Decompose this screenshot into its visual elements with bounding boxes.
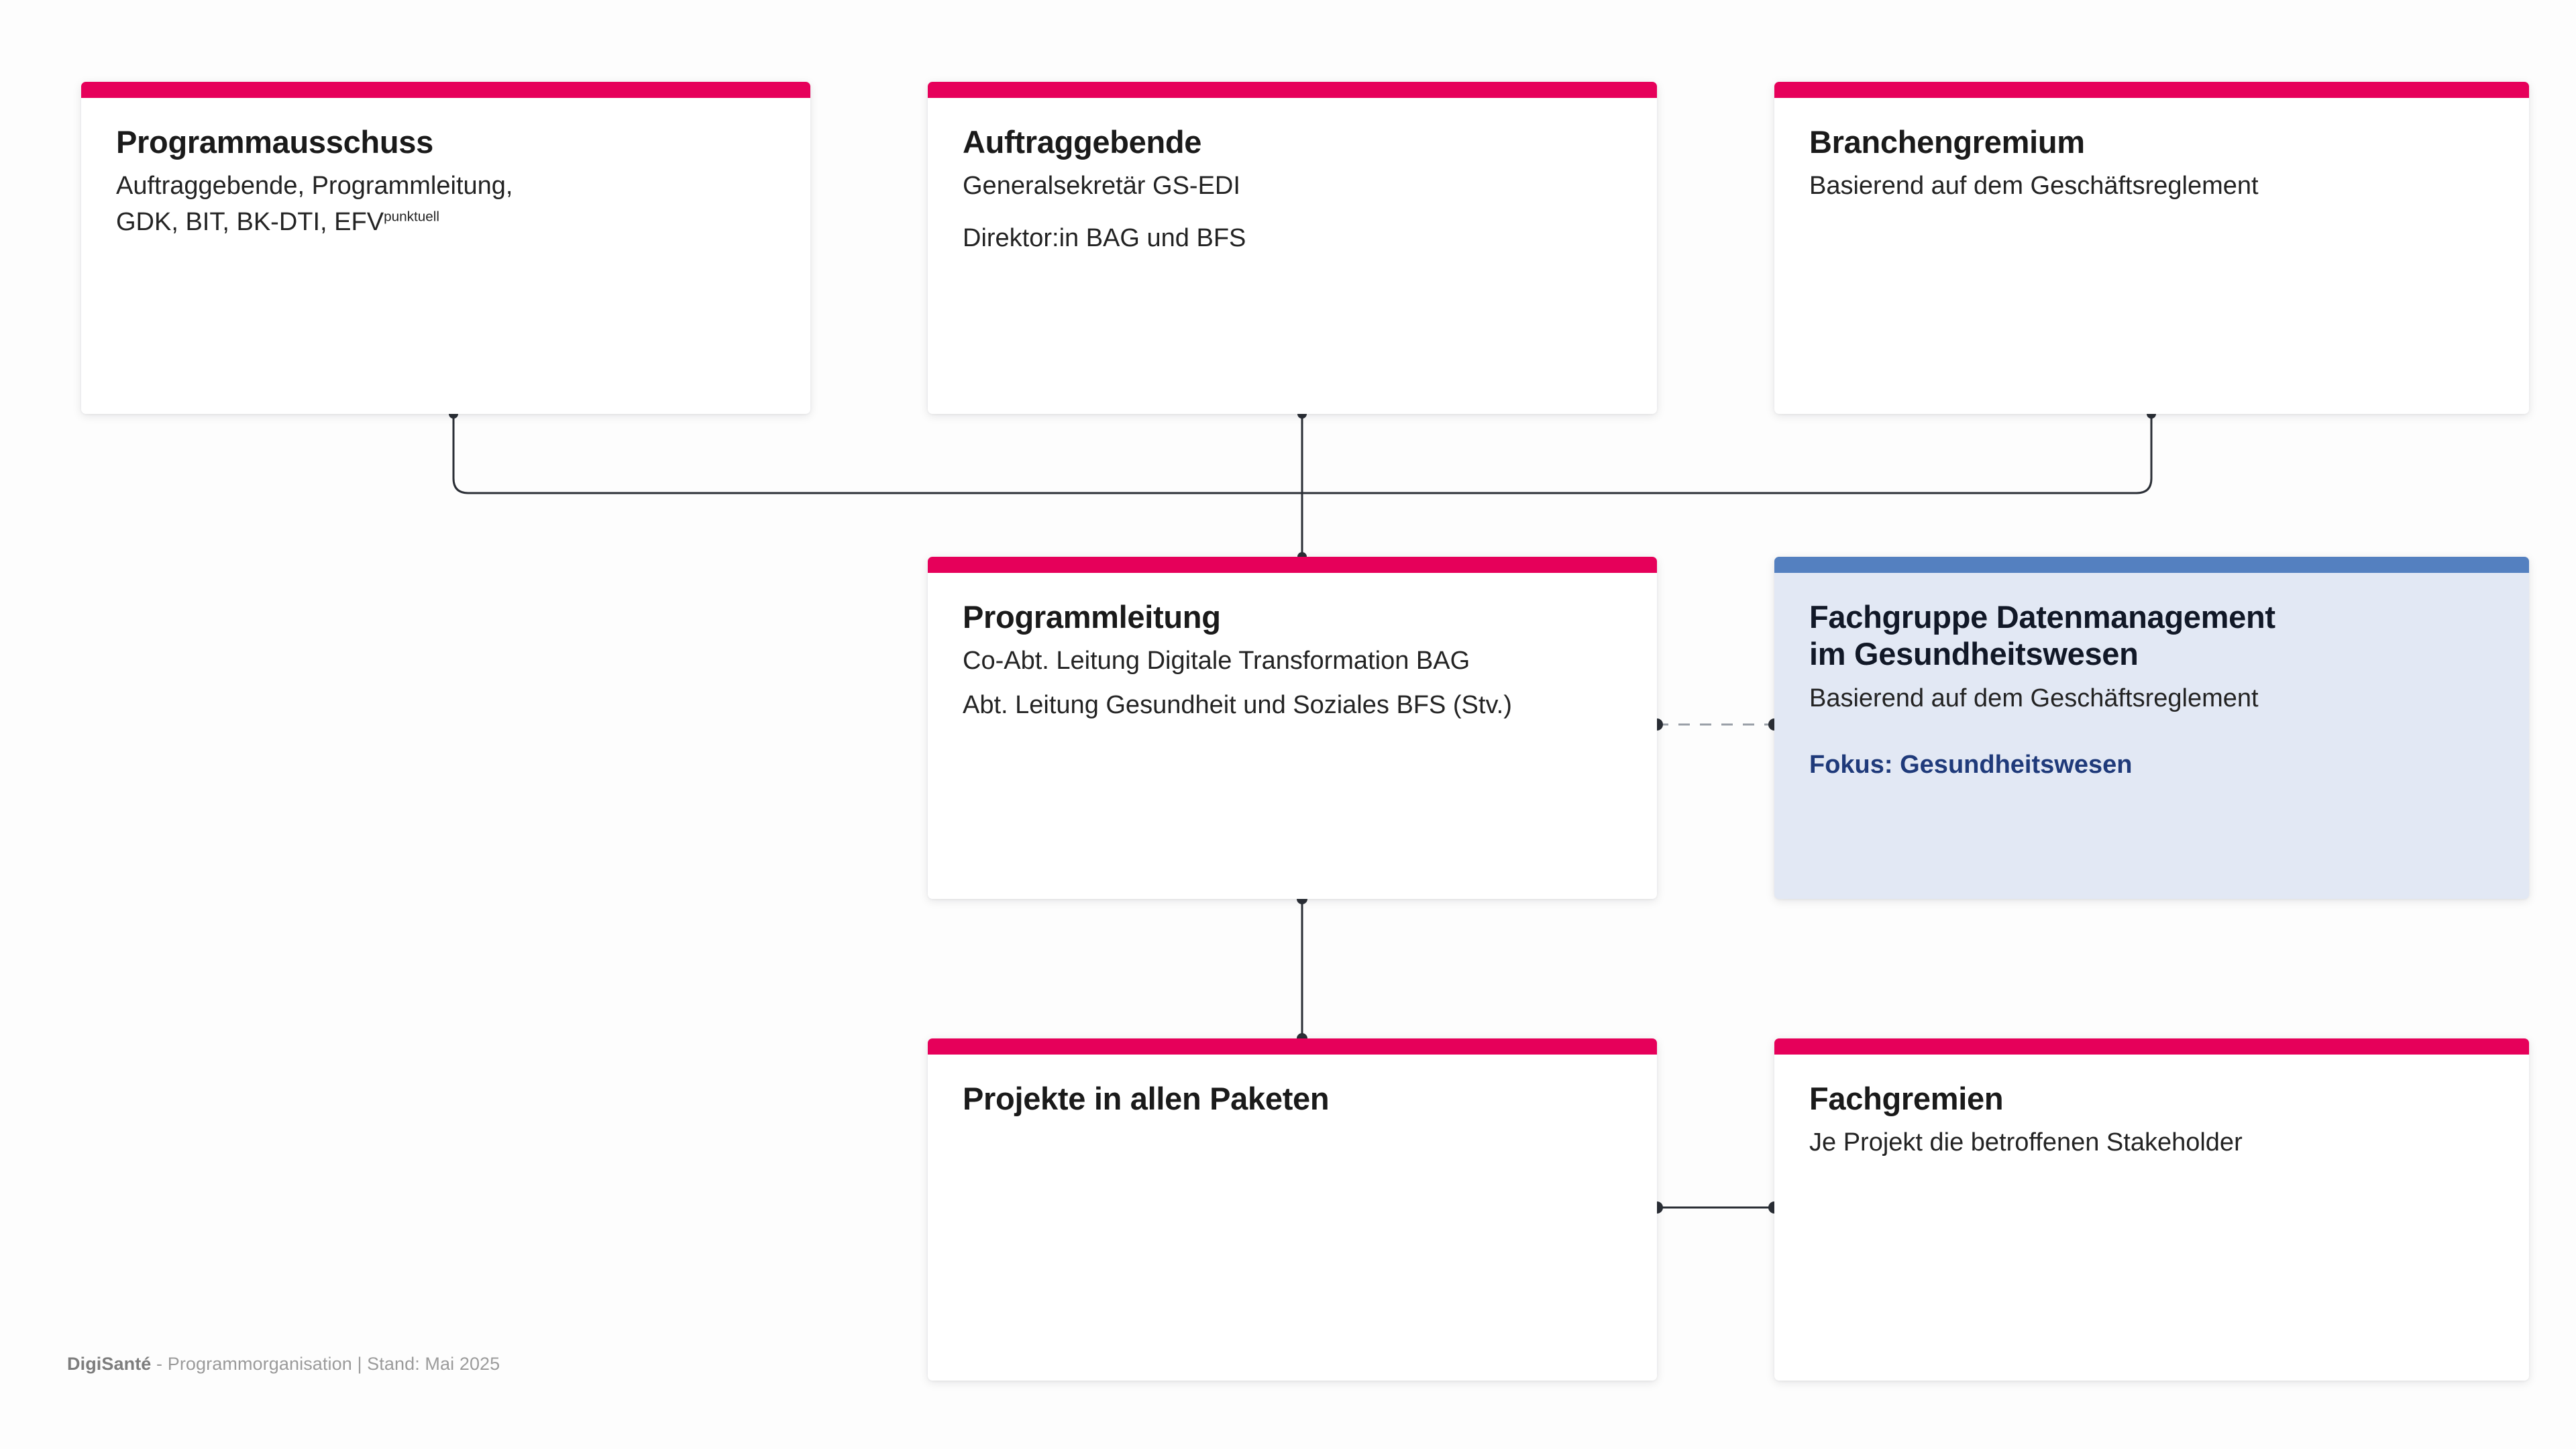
card-accent-bar-programmleitung — [928, 557, 1657, 573]
card-subtitle-branchengremium-line1: Basierend auf dem Geschäftsreglement — [1809, 168, 2494, 205]
connector-programmausschuss-to-bus — [453, 414, 1302, 493]
card-fachgruppe-datenmanagement[interactable]: Fachgruppe Datenmanagement im Gesundheit… — [1774, 557, 2529, 899]
card-accent-bar-auftraggebende — [928, 82, 1657, 98]
card-subtitle-programmausschuss-line1: Auftraggebende, Programmleitung, — [116, 168, 775, 205]
card-title-branchengremium: Branchengremium — [1809, 123, 2494, 160]
card-title-programmausschuss: Programmausschuss — [116, 123, 775, 160]
card-accent-bar-programmausschuss — [81, 82, 810, 98]
card-title-auftraggebende: Auftraggebende — [963, 123, 1622, 160]
card-subtitle-fachgruppe-line1: Basierend auf dem Geschäftsreglement — [1809, 681, 2494, 717]
card-subtitle-programmausschuss-line2: GDK, BIT, BK-DTI, EFVpunktuell — [116, 205, 775, 241]
card-subtitle-programmleitung-line2: Abt. Leitung Gesundheit und Soziales BFS… — [963, 688, 1622, 724]
card-title-fachgruppe-line1: Fachgruppe Datenmanagement — [1809, 599, 2275, 635]
card-body-fachgremien: Fachgremien Je Projekt die betroffenen S… — [1774, 1055, 2529, 1181]
card-body-programmausschuss: Programmausschuss Auftraggebende, Progra… — [81, 98, 810, 261]
card-accent-bar-branchengremium — [1774, 82, 2529, 98]
card-branchengremium[interactable]: Branchengremium Basierend auf dem Geschä… — [1774, 82, 2529, 414]
card-projekte-in-allen-paketen[interactable]: Projekte in allen Paketen — [928, 1038, 1657, 1381]
card-body-projekte: Projekte in allen Paketen — [928, 1055, 1657, 1145]
card-programmleitung[interactable]: Programmleitung Co-Abt. Leitung Digitale… — [928, 557, 1657, 899]
programmausschuss-members: GDK, BIT, BK-DTI, EFV — [116, 208, 384, 236]
footer-caption: DigiSanté - Programmorganisation | Stand… — [67, 1354, 500, 1375]
connector-branchengremium-to-bus — [1302, 414, 2151, 493]
card-programmausschuss[interactable]: Programmausschuss Auftraggebende, Progra… — [81, 82, 810, 414]
card-fachgremien[interactable]: Fachgremien Je Projekt die betroffenen S… — [1774, 1038, 2529, 1381]
programmausschuss-footnote: punktuell — [384, 209, 439, 225]
card-title-fachgruppe: Fachgruppe Datenmanagement im Gesundheit… — [1809, 598, 2494, 673]
footer-brand: DigiSanté — [67, 1354, 151, 1374]
card-body-branchengremium: Branchengremium Basierend auf dem Geschä… — [1774, 98, 2529, 225]
diagram-canvas: Programmausschuss Auftraggebende, Progra… — [0, 0, 2576, 1449]
card-fokus-fachgruppe: Fokus: Gesundheitswesen — [1809, 751, 2494, 780]
card-subtitle-fachgremien-line1: Je Projekt die betroffenen Stakeholder — [1809, 1125, 2494, 1161]
card-subtitle-auftraggebende-line2: Direktor:in BAG und BFS — [963, 221, 1622, 257]
card-body-programmleitung: Programmleitung Co-Abt. Leitung Digitale… — [928, 573, 1657, 744]
card-subtitle-auftraggebende-line1: Generalsekretär GS-EDI — [963, 168, 1622, 205]
card-subtitle-programmleitung-line1: Co-Abt. Leitung Digitale Transformation … — [963, 643, 1622, 680]
card-accent-bar-projekte — [928, 1038, 1657, 1055]
card-title-projekte: Projekte in allen Paketen — [963, 1080, 1622, 1117]
card-body-fachgruppe: Fachgruppe Datenmanagement im Gesundheit… — [1774, 573, 2529, 800]
card-body-auftraggebende: Auftraggebende Generalsekretär GS-EDI Di… — [928, 98, 1657, 277]
card-accent-bar-fachgremien — [1774, 1038, 2529, 1055]
card-accent-bar-fachgruppe — [1774, 557, 2529, 573]
card-title-fachgremien: Fachgremien — [1809, 1080, 2494, 1117]
card-title-programmleitung: Programmleitung — [963, 598, 1622, 635]
card-title-fachgruppe-line2: im Gesundheitswesen — [1809, 636, 2139, 672]
card-auftraggebende[interactable]: Auftraggebende Generalsekretär GS-EDI Di… — [928, 82, 1657, 414]
footer-rest: - Programmorganisation | Stand: Mai 2025 — [151, 1354, 500, 1374]
